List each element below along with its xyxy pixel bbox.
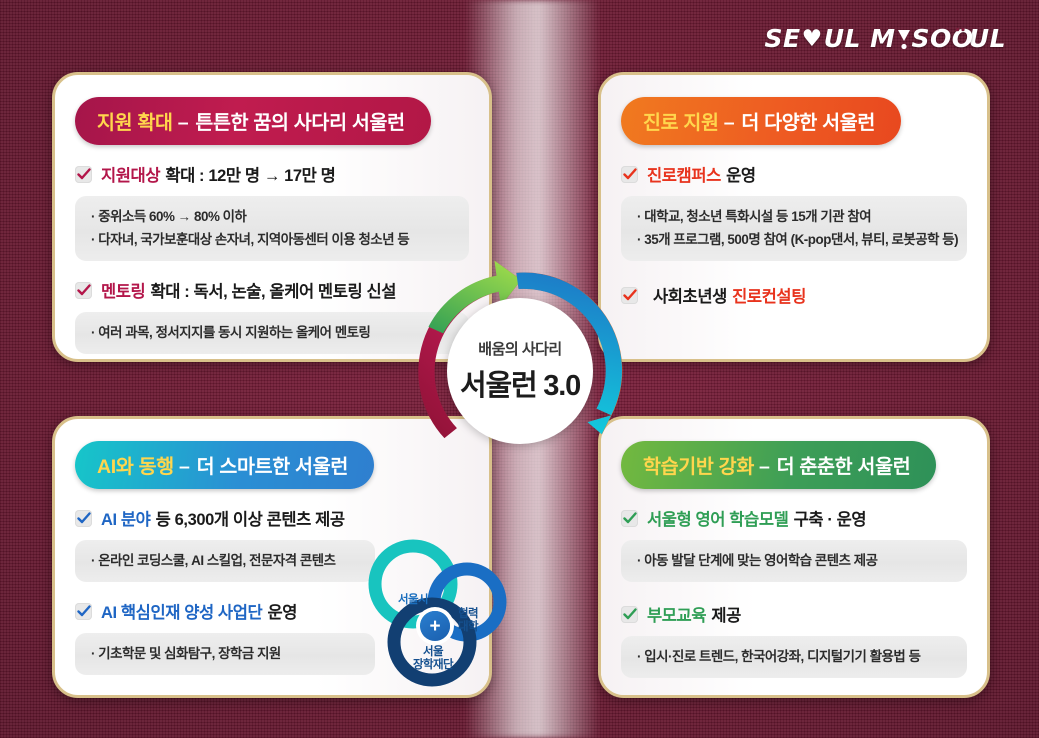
seoul-my-soul-logo: SE ♥ UL M SO O UL xyxy=(764,24,1006,53)
check-row: AI 분야 등 6,300개 이상 콘텐츠 제공 xyxy=(75,506,469,530)
check-label: 진로캠퍼스 운영 xyxy=(647,162,756,186)
check-label-rest: 운영 xyxy=(726,167,756,185)
check-label-emphasis: AI 분야 xyxy=(101,511,150,529)
venn-label-line1: 서울 xyxy=(423,646,443,658)
detail-box: · 중위소득 60% → 80% 이하 · 다자녀, 국가보훈대상 손자녀, 지… xyxy=(75,196,469,261)
detail-line: · 온라인 코딩스쿨, AI 스킬업, 전문자격 콘텐츠 xyxy=(91,549,359,572)
check-label: AI 핵심인재 양성 사업단 운영 xyxy=(101,599,297,623)
detail-line: · 여러 과목, 정서지지를 동시 지원하는 올케어 멘토링 xyxy=(91,321,453,344)
card-header-pill-learning-foundation: 학습기반 강화– 더 춘춘한 서울런 xyxy=(621,441,936,489)
detail-line: · 35개 프로그램, 500명 참여 (K-pop댄서, 뷰티, 로봇공학 등… xyxy=(637,228,951,251)
detail-box: · 아동 발달 단계에 맞는 영어학습 콘텐츠 제공 xyxy=(621,540,967,582)
pill-dash: – xyxy=(177,456,192,478)
check-label-rest: 확대 : 12만 명 → 17만 명 xyxy=(165,167,335,185)
check-label-emphasis: 진로캠퍼스 xyxy=(647,167,721,185)
smiley-icon xyxy=(896,24,912,53)
check-row: 서울형 영어 학습모델 구축 · 운영 xyxy=(621,506,967,530)
detail-box: · 입시·진로 트렌드, 한국어강좌, 디지털기기 활용법 등 xyxy=(621,636,967,678)
detail-line: · 대학교, 청소년 특화시설 등 15개 기관 참여 xyxy=(637,205,951,228)
venn-label-line1: 협력 xyxy=(458,608,478,620)
check-label: 서울형 영어 학습모델 구축 · 운영 xyxy=(647,506,866,530)
check-row: 사회초년생 진로컨설팅 xyxy=(621,283,967,307)
logo-text-part2: UL M xyxy=(824,24,896,53)
pill-dash: – xyxy=(176,112,191,134)
pill-rest: 더 다양한 서울런 xyxy=(741,112,875,134)
pill-highlight: 진로 지원 xyxy=(643,112,719,134)
pill-highlight: 지원 확대 xyxy=(97,112,173,134)
detail-box: · 대학교, 청소년 특화시설 등 15개 기관 참여 · 35개 프로그램, … xyxy=(621,196,967,261)
detail-line: · 기초학문 및 심화탐구, 장학금 지원 xyxy=(91,642,359,665)
check-label-emphasis: 사회초년생 xyxy=(653,288,727,306)
partnership-venn-diagram: 서울시 협력 대학 서울 장학재단 + xyxy=(358,532,518,692)
logo-text-part1: SE xyxy=(764,24,800,53)
detail-line: · 다자녀, 국가보훈대상 손자녀, 지역아동센터 이용 청소년 등 xyxy=(91,228,453,251)
card-career-support: 진로 지원– 더 다양한 서울런 진로캠퍼스 운영 · 대학교, 청소년 특화시… xyxy=(598,72,990,362)
card-header-pill-support-expansion: 지원 확대– 튼튼한 꿈의 사다리 서울런 xyxy=(75,97,431,145)
check-label-rest: 진로컨설팅 xyxy=(732,288,806,306)
venn-label-seoul-city: 서울시 xyxy=(378,594,448,607)
pill-highlight: AI와 동행 xyxy=(97,456,174,478)
venn-label-line2: 장학재단 xyxy=(413,659,453,671)
pill-dash: – xyxy=(757,456,772,478)
check-icon xyxy=(75,510,92,527)
check-icon xyxy=(75,282,92,299)
check-label-rest: 구축 · 운영 xyxy=(794,511,867,529)
check-label-rest: 등 6,300개 이상 콘텐츠 제공 xyxy=(156,511,345,529)
detail-box: · 기초학문 및 심화탐구, 장학금 지원 xyxy=(75,633,375,675)
check-label-rest: 운영 xyxy=(267,604,297,622)
check-label-rest: 제공 xyxy=(711,607,741,625)
cycle-core-label: 배움의 사다리 서울런 3.0 xyxy=(447,298,593,444)
check-label: 지원대상 확대 : 12만 명 → 17만 명 xyxy=(101,162,335,186)
check-label-emphasis: AI 핵심인재 양성 사업단 xyxy=(101,604,262,622)
pill-highlight: 학습기반 강화 xyxy=(643,456,754,478)
check-icon xyxy=(621,510,638,527)
check-row: 지원대상 확대 : 12만 명 → 17만 명 xyxy=(75,162,469,186)
detail-line: · 중위소득 60% → 80% 이하 xyxy=(91,205,453,228)
check-icon xyxy=(621,606,638,623)
pill-rest: 튼튼한 꿈의 사다리 서울런 xyxy=(195,112,404,134)
logo-text-part3: SO xyxy=(912,24,952,53)
check-icon xyxy=(75,603,92,620)
venn-label-scholarship-foundation: 서울 장학재단 xyxy=(398,646,468,672)
logo-text-part4: O UL xyxy=(952,24,1006,53)
center-cycle-diagram: 배움의 사다리 서울런 3.0 xyxy=(404,255,636,487)
venn-label-line2: 대학 xyxy=(458,621,478,633)
cycle-title: 서울런 3.0 xyxy=(460,362,580,404)
cycle-subtitle: 배움의 사다리 xyxy=(478,338,561,359)
card-header-pill-ai-companion: AI와 동행– 더 스마트한 서울런 xyxy=(75,441,374,489)
check-label-emphasis: 지원대상 xyxy=(101,167,160,185)
card-learning-foundation: 학습기반 강화– 더 춘춘한 서울런 서울형 영어 학습모델 구축 · 운영 ·… xyxy=(598,416,990,698)
check-label: 부모교육 제공 xyxy=(647,602,741,626)
check-label-emphasis: 서울형 영어 학습모델 xyxy=(647,511,788,529)
pill-rest: 더 스마트한 서울런 xyxy=(197,456,348,478)
check-label: 사회초년생 진로컨설팅 xyxy=(653,283,806,307)
check-row: 진로캠퍼스 운영 xyxy=(621,162,967,186)
check-row: 부모교육 제공 xyxy=(621,602,967,626)
check-icon xyxy=(621,166,638,183)
check-label-rest: 확대 : 독서, 논술, 올케어 멘토링 신설 xyxy=(151,283,397,301)
detail-line: · 입시·진로 트렌드, 한국어강좌, 디지털기기 활용법 등 xyxy=(637,645,951,668)
check-label: 멘토링 확대 : 독서, 논술, 올케어 멘토링 신설 xyxy=(101,278,396,302)
check-label: AI 분야 등 6,300개 이상 콘텐츠 제공 xyxy=(101,506,345,530)
check-label-emphasis: 멘토링 xyxy=(101,283,145,301)
check-icon xyxy=(75,166,92,183)
detail-box: · 온라인 코딩스쿨, AI 스킬업, 전문자격 콘텐츠 xyxy=(75,540,375,582)
card-header-pill-career-support: 진로 지원– 더 다양한 서울런 xyxy=(621,97,901,145)
pill-rest: 더 춘춘한 서울런 xyxy=(777,456,911,478)
detail-line: · 아동 발달 단계에 맞는 영어학습 콘텐츠 제공 xyxy=(637,549,951,572)
check-label-emphasis: 부모교육 xyxy=(647,607,706,625)
heart-icon: ♥ xyxy=(802,26,823,52)
plus-icon: + xyxy=(420,611,450,641)
pill-dash: – xyxy=(722,112,737,134)
